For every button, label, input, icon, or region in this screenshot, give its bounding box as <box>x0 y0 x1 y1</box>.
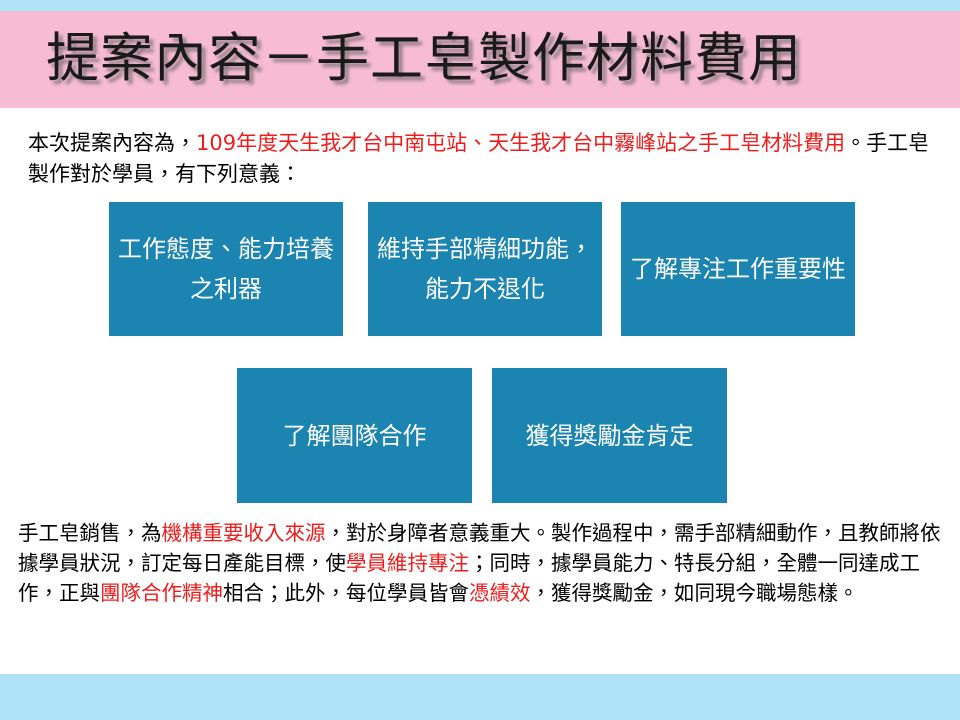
benefit-box-teamwork: 了解團隊合作 <box>237 368 472 503</box>
bottom-accent-strip <box>0 674 960 720</box>
summary-segment-1: 手工皂銷售，為 <box>18 521 162 545</box>
slide-canvas: 提案內容－手工皂製作材料費用 本次提案內容為，109年度天生我才台中南屯站、天生… <box>0 0 960 720</box>
page-title: 提案內容－手工皂製作材料費用 <box>46 27 802 91</box>
benefit-box-focus: 了解專注工作重要性 <box>621 202 855 336</box>
benefit-box-label: 了解團隊合作 <box>245 416 464 456</box>
intro-paragraph: 本次提案內容為，109年度天生我才台中南屯站、天生我才台中霧峰站之手工皂材料費用… <box>28 128 938 190</box>
benefit-box-bonus: 獲得獎勵金肯定 <box>492 368 727 503</box>
summary-segment-4: 相合；此外，每位學員皆會 <box>223 581 469 605</box>
summary-highlight-teamwork: 團隊合作精神 <box>100 581 223 605</box>
title-banner: 提案內容－手工皂製作材料費用 <box>0 11 960 108</box>
summary-segment-5: ，獲得獎勵金，如同現今職場態樣。 <box>531 581 859 605</box>
top-accent-strip <box>0 0 960 11</box>
summary-paragraph: 手工皂銷售，為機構重要收入來源，對於身障者意義重大。製作過程中，需手部精細動作，… <box>18 518 946 608</box>
benefit-box-label: 獲得獎勵金肯定 <box>500 416 719 456</box>
summary-highlight-performance: 憑績效 <box>469 581 531 605</box>
benefit-box-label: 維持手部精細功能，能力不退化 <box>376 229 594 309</box>
benefit-box-label: 工作態度、能力培養之利器 <box>117 229 335 309</box>
intro-lead-text: 本次提案內容為， <box>28 131 196 155</box>
summary-highlight-income: 機構重要收入來源 <box>162 521 326 545</box>
benefit-box-label: 了解專注工作重要性 <box>629 249 847 289</box>
intro-highlight-text: 109年度天生我才台中南屯站、天生我才台中霧峰站之手工皂材料費用 <box>196 131 845 155</box>
benefit-box-work-attitude: 工作態度、能力培養之利器 <box>109 202 343 336</box>
benefit-box-fine-motor: 維持手部精細功能，能力不退化 <box>368 202 602 336</box>
summary-highlight-focus: 學員維持專注 <box>346 551 469 575</box>
